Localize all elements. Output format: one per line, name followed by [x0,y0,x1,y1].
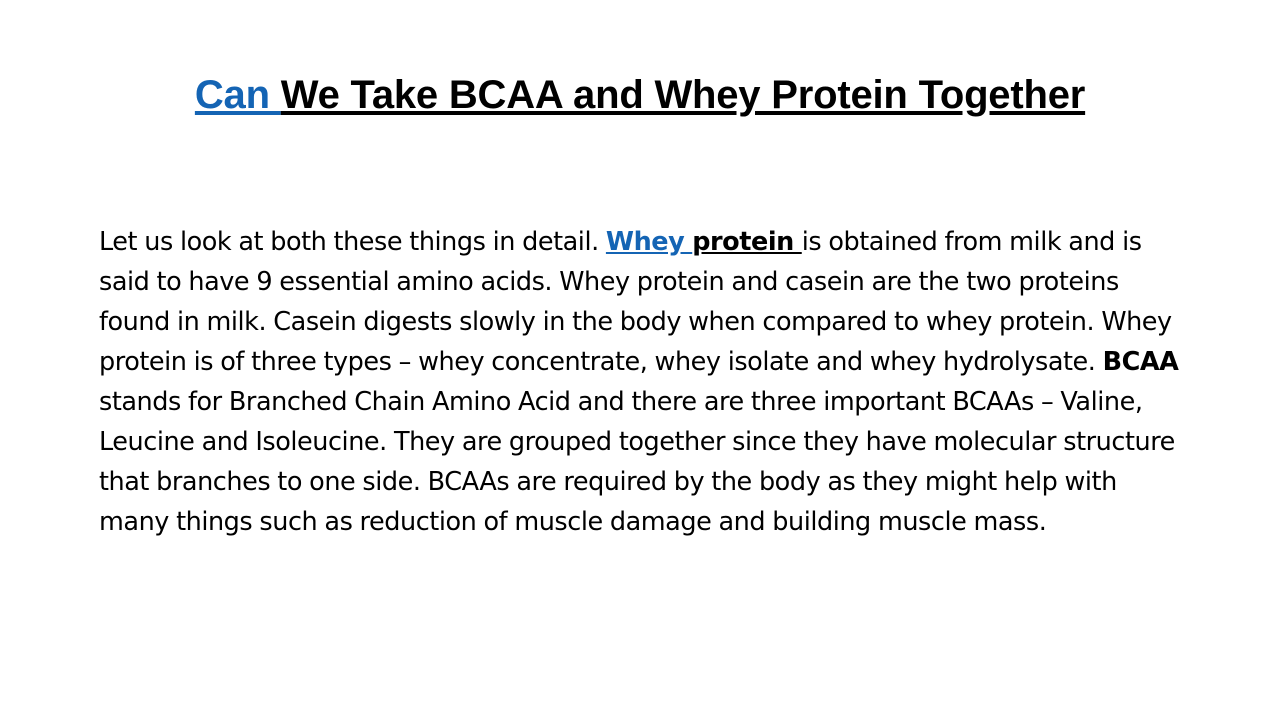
body-link-whey[interactable]: Whey [606,227,692,257]
page-title: Can We Take BCAA and Whey Protein Togeth… [64,71,1216,119]
slide-canvas: Can We Take BCAA and Whey Protein Togeth… [0,0,1280,720]
title-placeholder: Can We Take BCAA and Whey Protein Togeth… [64,44,1216,146]
title-text-rest: We Take BCAA and Whey Protein Together [281,73,1085,117]
body-bold-bcaa: BCAA [1103,347,1179,377]
body-segment-intro: Let us look at both these things in deta… [99,227,606,257]
body-segment-end: stands for Branched Chain Amino Acid and… [99,387,1175,537]
title-link-can[interactable]: Can [195,73,281,117]
body-link-protein[interactable]: protein [692,227,802,257]
body-placeholder: Let us look at both these things in deta… [99,196,1189,567]
body-paragraph: Let us look at both these things in deta… [99,222,1189,542]
